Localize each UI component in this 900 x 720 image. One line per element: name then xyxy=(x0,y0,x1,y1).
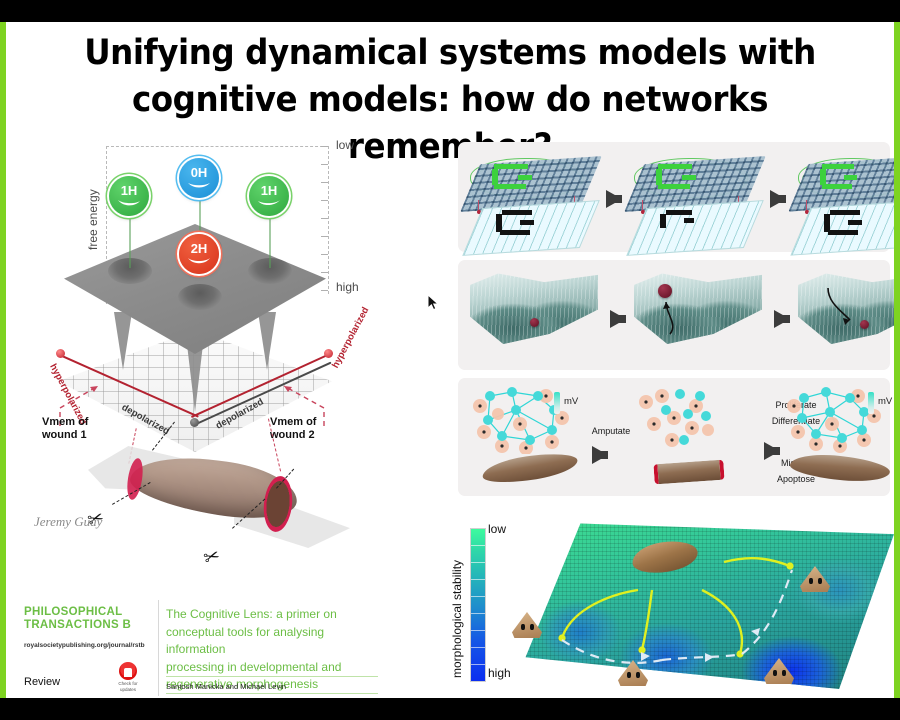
attractor-badge-2h-center[interactable]: 2H xyxy=(179,234,219,274)
cell-network-disrupted xyxy=(632,384,752,454)
card-divider xyxy=(158,600,159,696)
worm-icon xyxy=(117,198,141,207)
slide-root: Unifying dynamical systems models with c… xyxy=(0,0,900,720)
stability-colorbar xyxy=(470,528,486,682)
planaria-body-regenerated xyxy=(789,451,891,485)
right-arrow-icon xyxy=(770,190,786,208)
attractor-badge-0h-top[interactable]: 0H xyxy=(179,158,219,198)
axis-top-guide xyxy=(106,146,328,147)
trajectory-overlay xyxy=(502,520,894,696)
state-ball-settled xyxy=(860,320,869,329)
title-rule xyxy=(166,676,378,677)
right-arrow-icon xyxy=(606,190,622,208)
axis-node-left xyxy=(56,349,65,358)
colorbar-axis-label: morphological stability xyxy=(450,560,464,678)
attractor-badge-1h-left[interactable]: 1H xyxy=(109,176,149,216)
article-title: The Cognitive Lens: a primer on conceptu… xyxy=(166,606,378,694)
mv-colorbar xyxy=(554,392,560,414)
journal-name: PHILOSOPHICAL TRANSACTIONS B xyxy=(24,606,131,632)
cell-network-intact xyxy=(468,384,588,454)
mv-label: mV xyxy=(564,396,578,407)
attractor-label: 1H xyxy=(121,185,138,197)
slide-canvas: Unifying dynamical systems models with c… xyxy=(6,22,894,698)
hopfield-step-1 xyxy=(466,148,592,246)
illustration-credit: Jeremy Guay xyxy=(34,514,102,530)
right-arrow-icon xyxy=(774,310,790,328)
axis-right-guide xyxy=(328,146,329,294)
crossmark-icon xyxy=(119,662,137,680)
worm-icon xyxy=(187,256,211,265)
attractor-label: 0H xyxy=(191,167,208,179)
mouse-pointer-icon xyxy=(427,294,440,312)
attractor-badge-1h-right[interactable]: 1H xyxy=(249,176,289,216)
axis-node-right xyxy=(324,349,333,358)
journal-citation-card: PHILOSOPHICAL TRANSACTIONS B royalsociet… xyxy=(18,600,380,696)
energy-landscape-panel xyxy=(458,260,890,370)
crossmark-badge[interactable]: Check for updates xyxy=(114,662,142,692)
axis-label-hyperpolarized-right: hyperpolarized xyxy=(330,305,371,370)
planaria-body-intact xyxy=(481,449,579,486)
free-energy-high-label: high xyxy=(336,280,359,294)
perturbation-trace xyxy=(658,296,696,336)
cell-network-restored xyxy=(784,384,894,454)
worm-icon xyxy=(257,198,281,207)
article-type-label: Review xyxy=(24,676,60,688)
hopfield-step-3 xyxy=(794,148,894,246)
author-rule xyxy=(166,693,378,694)
right-arrow-icon xyxy=(592,446,608,464)
axis-ticks xyxy=(321,146,328,294)
journal-url[interactable]: royalsocietypublishing.org/journal/rstb xyxy=(24,642,145,649)
scissors-icon: ✂ xyxy=(201,544,223,571)
free-energy-axis-label: free energy xyxy=(86,189,100,250)
planaria-fragment xyxy=(653,460,724,485)
worm-icon xyxy=(187,180,211,189)
worm-fragment-figure: ✂ ✂ Jeremy Guay xyxy=(26,432,376,592)
mv-colorbar xyxy=(868,392,874,414)
attractor-label: 2H xyxy=(191,243,208,255)
title-line-1: Unifying dynamical systems models with xyxy=(37,22,863,77)
regen-step-2 xyxy=(632,384,752,490)
right-arrow-icon xyxy=(610,310,626,328)
hopfield-step-2 xyxy=(630,148,756,246)
attractor-label: 1H xyxy=(261,185,278,197)
article-authors: Santosh Manicka and Michael Levin xyxy=(166,682,286,691)
state-ball xyxy=(530,318,539,327)
axis-node-bottom xyxy=(190,418,199,427)
hopfield-panel xyxy=(458,142,890,252)
planaria-regeneration-panel: mV Amputate xyxy=(458,378,890,496)
top-black-bar xyxy=(0,0,900,22)
free-energy-landscape-figure: low high free energy hyperpolarized depo… xyxy=(30,140,370,430)
bottom-black-bar xyxy=(0,698,900,720)
free-energy-low-label: low xyxy=(336,138,354,152)
morphological-stability-landscape: low high morphological stability xyxy=(446,518,894,698)
mv-label: mV xyxy=(878,396,892,407)
